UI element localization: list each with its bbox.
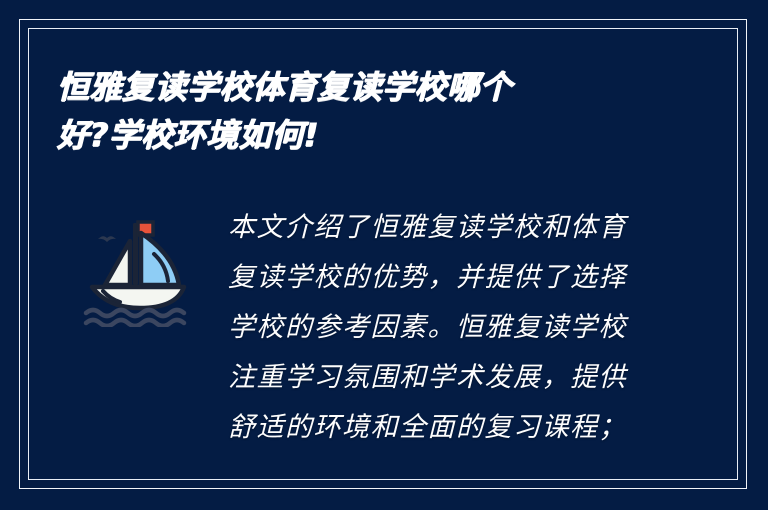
body-line-3: 学校的参考因素。恒雅复读学校 — [228, 303, 658, 353]
title-line-2: 好?学校环境如何! — [57, 111, 677, 159]
hull-shape — [92, 287, 184, 308]
body-line-2: 复读学校的优势，并提供了选择 — [228, 253, 658, 303]
jib-sail-shape — [105, 241, 130, 285]
title-line-1: 恒雅复读学校体育复读学校哪个 — [57, 63, 677, 111]
page-title: 恒雅复读学校体育复读学校哪个 好?学校环境如何! — [57, 63, 677, 159]
body-line-1: 本文介绍了恒雅复读学校和体育 — [228, 203, 658, 253]
body-line-5: 舒适的环境和全面的复习课程； — [228, 403, 658, 453]
sailboat-icon — [78, 207, 198, 327]
body-line-4: 注重学习氛围和学术发展，提供 — [228, 353, 658, 403]
seagull-icon — [98, 236, 116, 242]
wave-line-1 — [86, 310, 184, 316]
poster-canvas: 恒雅复读学校体育复读学校哪个 好?学校环境如何! 本文介绍了恒雅复读学校和 — [0, 0, 768, 510]
wave-line-2 — [86, 320, 184, 326]
body-text: 本文介绍了恒雅复读学校和体育 复读学校的优势，并提供了选择 学校的参考因素。恒雅… — [228, 203, 658, 453]
